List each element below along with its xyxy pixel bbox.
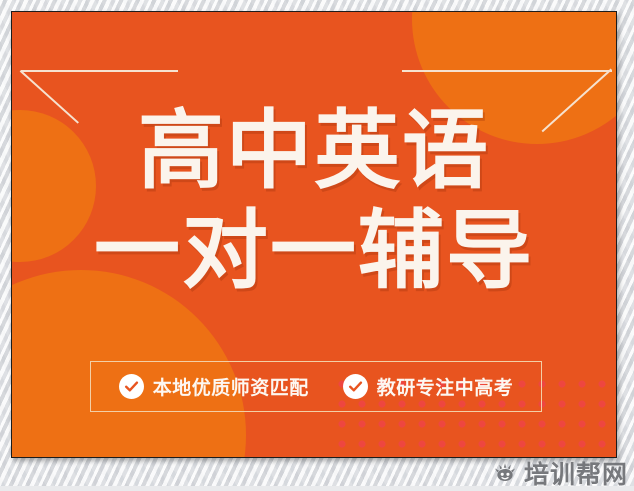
corner-rule-right-horizontal <box>402 70 612 72</box>
decorative-circle-left-top <box>12 110 96 262</box>
page-background: 高中英语 一对一辅导 本地优质师资匹配 <box>0 0 634 486</box>
check-circle-icon <box>119 374 144 399</box>
feature-item-1: 本地优质师资匹配 <box>119 373 309 400</box>
corner-rule-left-horizontal <box>21 70 178 72</box>
sun-face-icon <box>492 460 518 486</box>
poster-panel: 高中英语 一对一辅导 本地优质师资匹配 <box>11 11 617 458</box>
feature-strip: 本地优质师资匹配 教研专注中高考 <box>90 361 542 412</box>
decorative-circle-right-top <box>412 12 616 144</box>
feature-label-1: 本地优质师资匹配 <box>153 373 309 400</box>
check-circle-icon <box>343 374 368 399</box>
poster-stage: 高中英语 一对一辅导 本地优质师资匹配 <box>12 12 616 457</box>
feature-item-2: 教研专注中高考 <box>343 373 514 400</box>
feature-label-2: 教研专注中高考 <box>377 373 514 400</box>
